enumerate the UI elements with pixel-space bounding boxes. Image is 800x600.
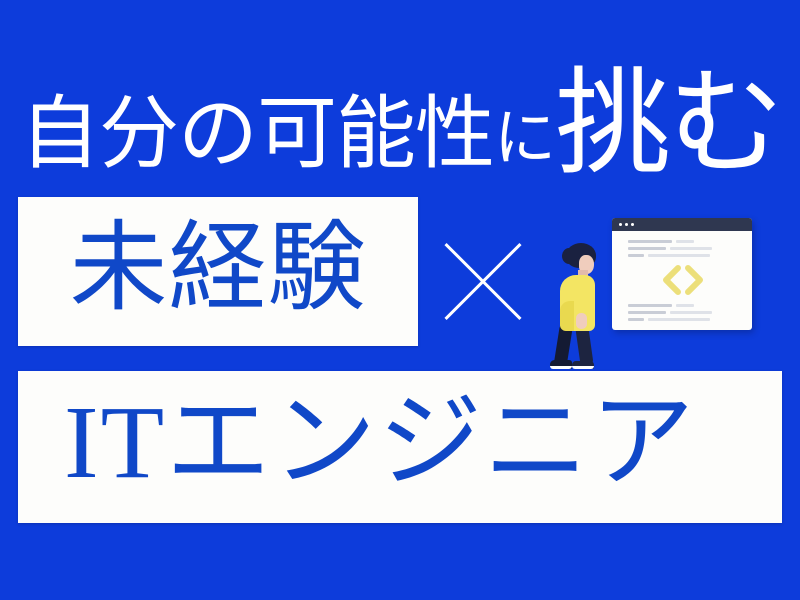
code-segment — [628, 318, 644, 321]
headline-segment-large: 挑む — [555, 72, 781, 180]
code-segment — [670, 311, 712, 314]
code-segment — [676, 304, 694, 307]
window-dot-icon — [625, 223, 628, 226]
window-dot-icon — [619, 223, 622, 226]
code-segment — [676, 240, 694, 243]
panel-it-engineer: ITエンジニア — [18, 371, 782, 523]
person-sole-front — [572, 366, 594, 369]
code-segment — [628, 240, 672, 243]
code-segment — [648, 254, 710, 257]
code-segment — [628, 254, 644, 257]
code-row — [628, 240, 738, 243]
code-segment — [670, 247, 712, 250]
headline-segment-normal: 自分の可能性 — [20, 97, 494, 174]
person-hand — [576, 313, 587, 329]
code-rows-bottom — [628, 304, 738, 321]
code-row — [628, 311, 738, 314]
code-row — [628, 318, 738, 321]
code-row — [628, 247, 738, 250]
window-body: <> — [612, 231, 752, 330]
person-sole-back — [550, 366, 572, 369]
person-jacket-shadow — [560, 301, 574, 331]
code-segment — [628, 311, 666, 314]
walking-person-illustration — [548, 243, 608, 369]
code-rows-top — [628, 240, 738, 257]
multiplier-cross-icon: × — [444, 242, 522, 320]
code-segment — [628, 304, 672, 307]
panel-mikeiken: 未経験 — [18, 197, 418, 346]
panel-it-engineer-label: ITエンジニア — [64, 391, 696, 495]
code-row — [628, 254, 738, 257]
code-row — [628, 304, 738, 307]
browser-code-window: <> — [612, 218, 752, 330]
code-segment — [628, 247, 666, 250]
panel-mikeiken-label: 未経験 — [69, 220, 366, 318]
code-segment — [648, 318, 710, 321]
window-titlebar — [612, 218, 752, 231]
code-brackets-icon: <> — [628, 265, 738, 295]
window-dot-icon — [631, 223, 634, 226]
headline-segment-small: に — [494, 110, 555, 170]
poster-canvas: 自分の可能性 に 挑む 未経験 × — [0, 0, 800, 600]
page-title: 自分の可能性 に 挑む — [20, 54, 788, 174]
